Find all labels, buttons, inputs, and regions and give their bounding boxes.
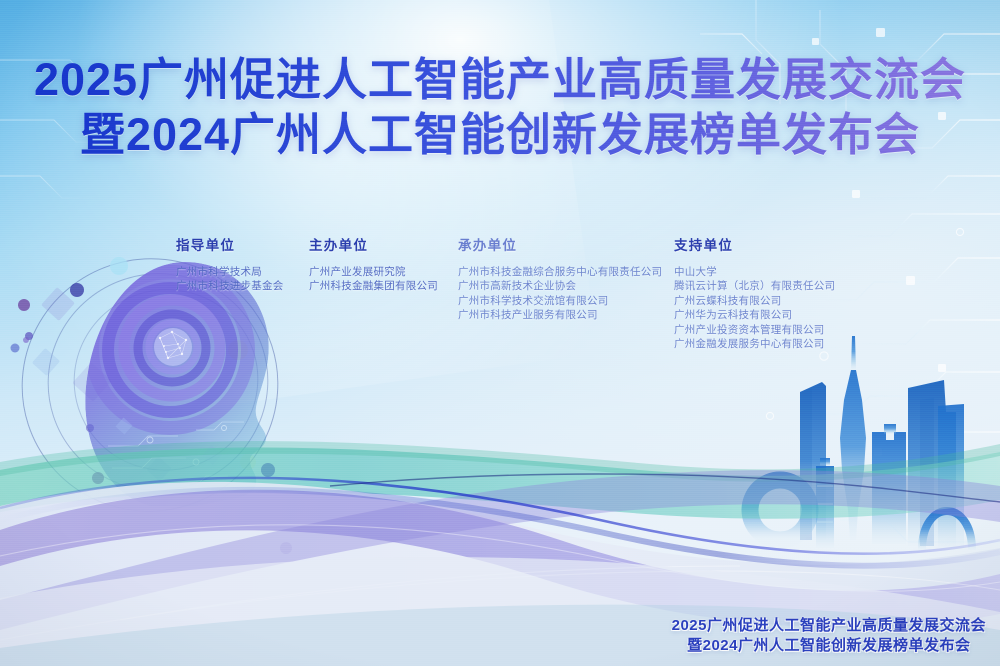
unit-column-heading: 主办单位: [309, 234, 454, 254]
unit-column-supporter: 支持单位 中山大学 腾讯云计算（北京）有限责任公司 广州云蝶科技有限公司 广州华…: [674, 234, 874, 351]
unit-list-item: 广州市科学技术交流馆有限公司: [458, 294, 673, 308]
event-backdrop-screen: 2025广州促进人工智能产业高质量发展交流会 暨2024广州人工智能创新发展榜单…: [0, 0, 1000, 666]
unit-list-item: 广州云蝶科技有限公司: [674, 294, 874, 308]
unit-list-item: 广州市高新技术企业协会: [458, 279, 673, 293]
unit-list: 中山大学 腾讯云计算（北京）有限责任公司 广州云蝶科技有限公司 广州华为云科技有…: [674, 265, 874, 351]
watermark-line-1: 2025广州促进人工智能产业高质量发展交流会: [672, 616, 986, 636]
unit-list-item: 广州市科技产业服务有限公司: [458, 308, 673, 322]
event-title-line-1: 2025广州促进人工智能产业高质量发展交流会: [0, 56, 1000, 104]
unit-column-organizer: 主办单位 广州产业发展研究院 广州科技金融集团有限公司: [309, 234, 454, 294]
unit-column-heading: 承办单位: [458, 234, 673, 254]
unit-list-item: 广州科技金融集团有限公司: [309, 279, 454, 293]
bottom-watermark: 2025广州促进人工智能产业高质量发展交流会 暨2024广州人工智能创新发展榜单…: [672, 616, 986, 657]
event-title: 2025广州促进人工智能产业高质量发展交流会 暨2024广州人工智能创新发展榜单…: [0, 56, 1000, 158]
unit-list: 广州产业发展研究院 广州科技金融集团有限公司: [309, 265, 454, 294]
unit-list-item: 广州市科学技术局: [176, 265, 301, 279]
unit-list-item: 腾讯云计算（北京）有限责任公司: [674, 279, 874, 293]
unit-list: 广州市科技金融综合服务中心有限责任公司 广州市高新技术企业协会 广州市科学技术交…: [458, 265, 673, 323]
event-title-line-2: 暨2024广州人工智能创新发展榜单发布会: [0, 111, 1000, 159]
unit-column-heading: 支持单位: [674, 234, 874, 254]
unit-list-item: 广州产业投资资本管理有限公司: [674, 323, 874, 337]
unit-column-guiding: 指导单位 广州市科学技术局 广州市科技进步基金会: [176, 234, 301, 294]
unit-list: 广州市科学技术局 广州市科技进步基金会: [176, 265, 301, 294]
unit-column-undertaker: 承办单位 广州市科技金融综合服务中心有限责任公司 广州市高新技术企业协会 广州市…: [458, 234, 673, 323]
unit-list-item: 广州产业发展研究院: [309, 265, 454, 279]
unit-list-item: 广州市科技金融综合服务中心有限责任公司: [458, 265, 673, 279]
unit-list-item: 广州市科技进步基金会: [176, 279, 301, 293]
watermark-line-2: 暨2024广州人工智能创新发展榜单发布会: [672, 636, 986, 656]
unit-list-item: 广州金融发展服务中心有限公司: [674, 337, 874, 351]
unit-list-item: 广州华为云科技有限公司: [674, 308, 874, 322]
unit-list-item: 中山大学: [674, 265, 874, 279]
unit-column-heading: 指导单位: [176, 234, 301, 254]
